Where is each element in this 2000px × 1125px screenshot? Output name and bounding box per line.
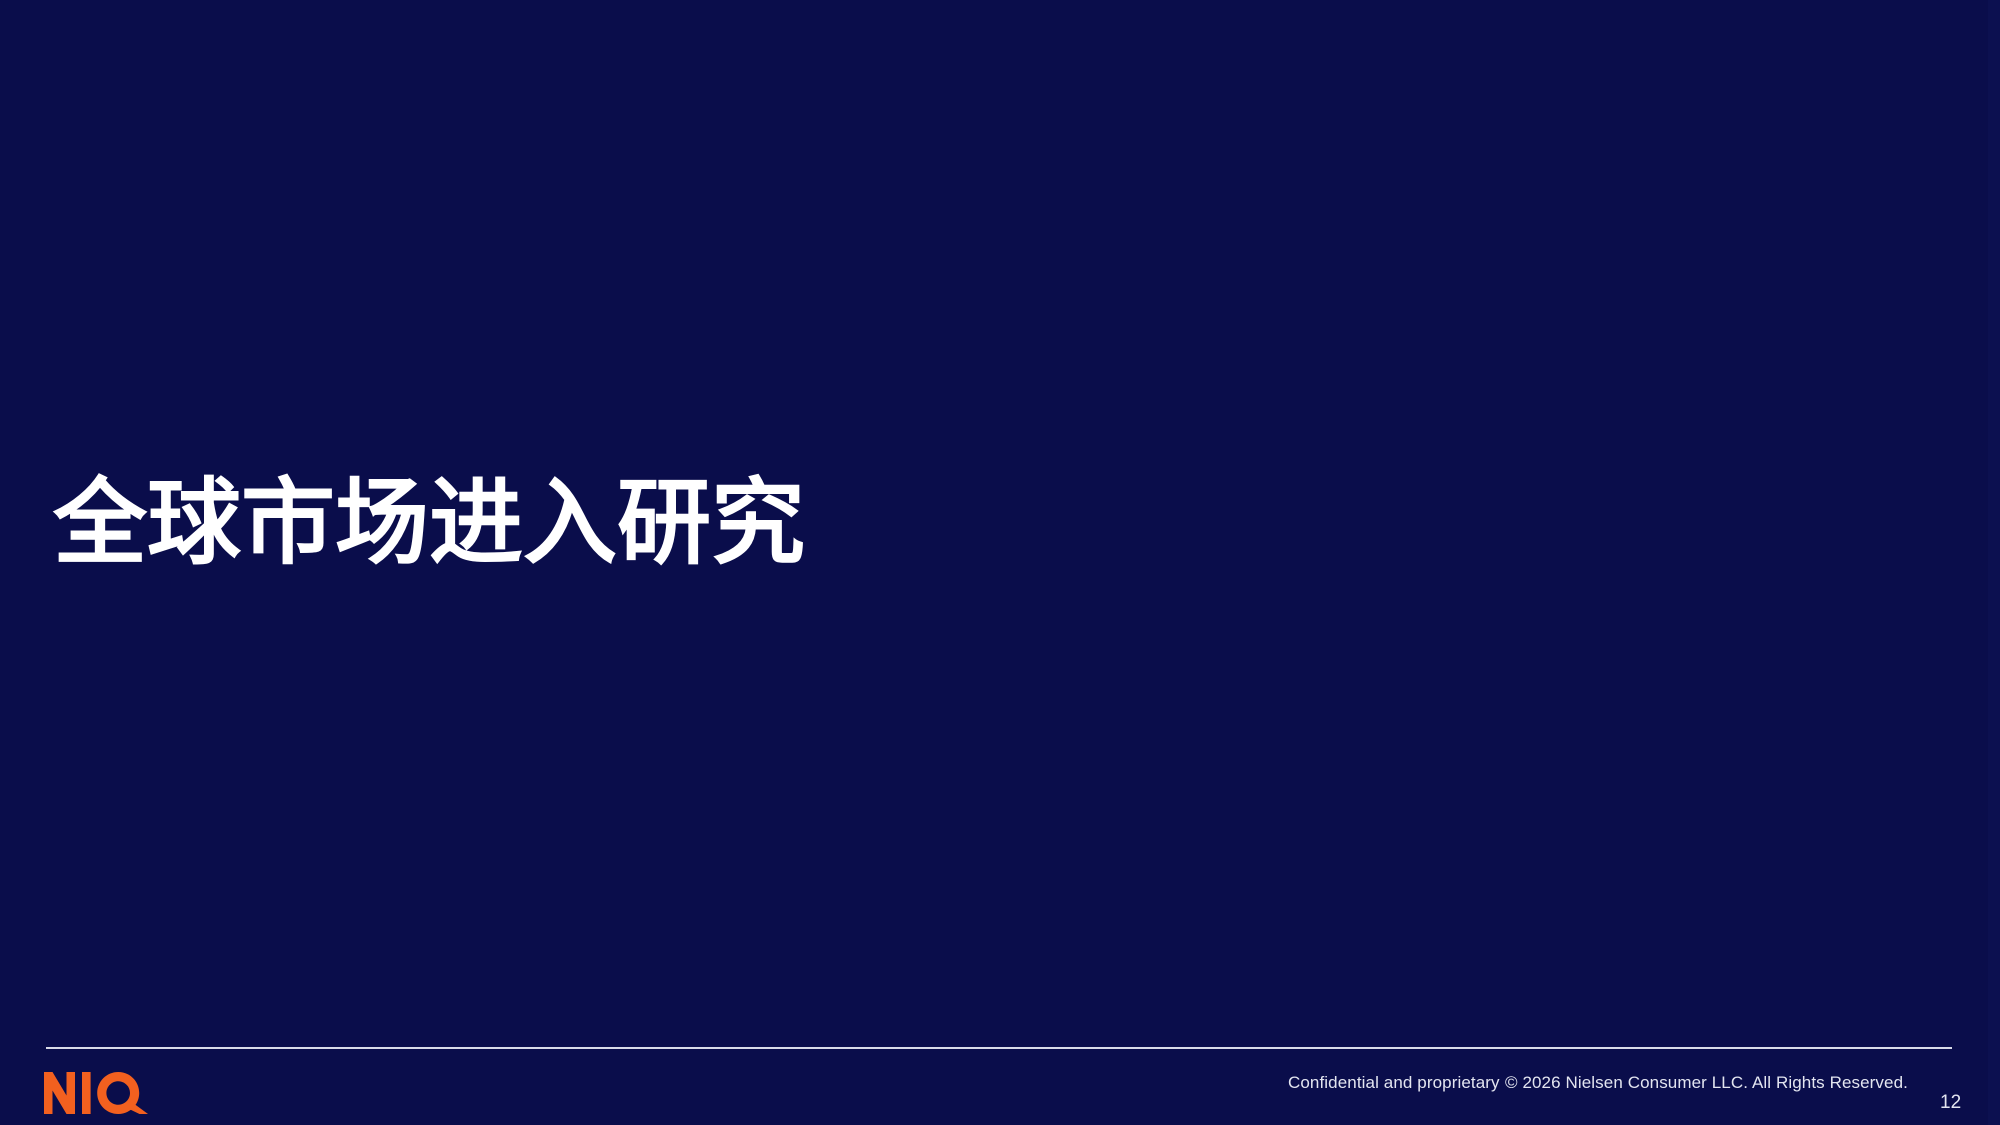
page-number: 12 bbox=[1940, 1092, 1961, 1114]
footer-copyright-label: © 2026 Nielsen Consumer LLC. All Rights … bbox=[1505, 1073, 1908, 1093]
slide-right-edge bbox=[1988, 0, 2000, 1125]
footer-confidential-label: Confidential and proprietary bbox=[1288, 1073, 1500, 1093]
slide-canvas: 全球市场进入研究 Confidential and proprietary © … bbox=[0, 0, 2000, 1125]
footer-divider bbox=[46, 1047, 1952, 1049]
page-title: 全球市场进入研究 bbox=[53, 470, 1453, 575]
niq-logo-icon bbox=[44, 1072, 148, 1114]
niq-logo bbox=[44, 1072, 148, 1114]
